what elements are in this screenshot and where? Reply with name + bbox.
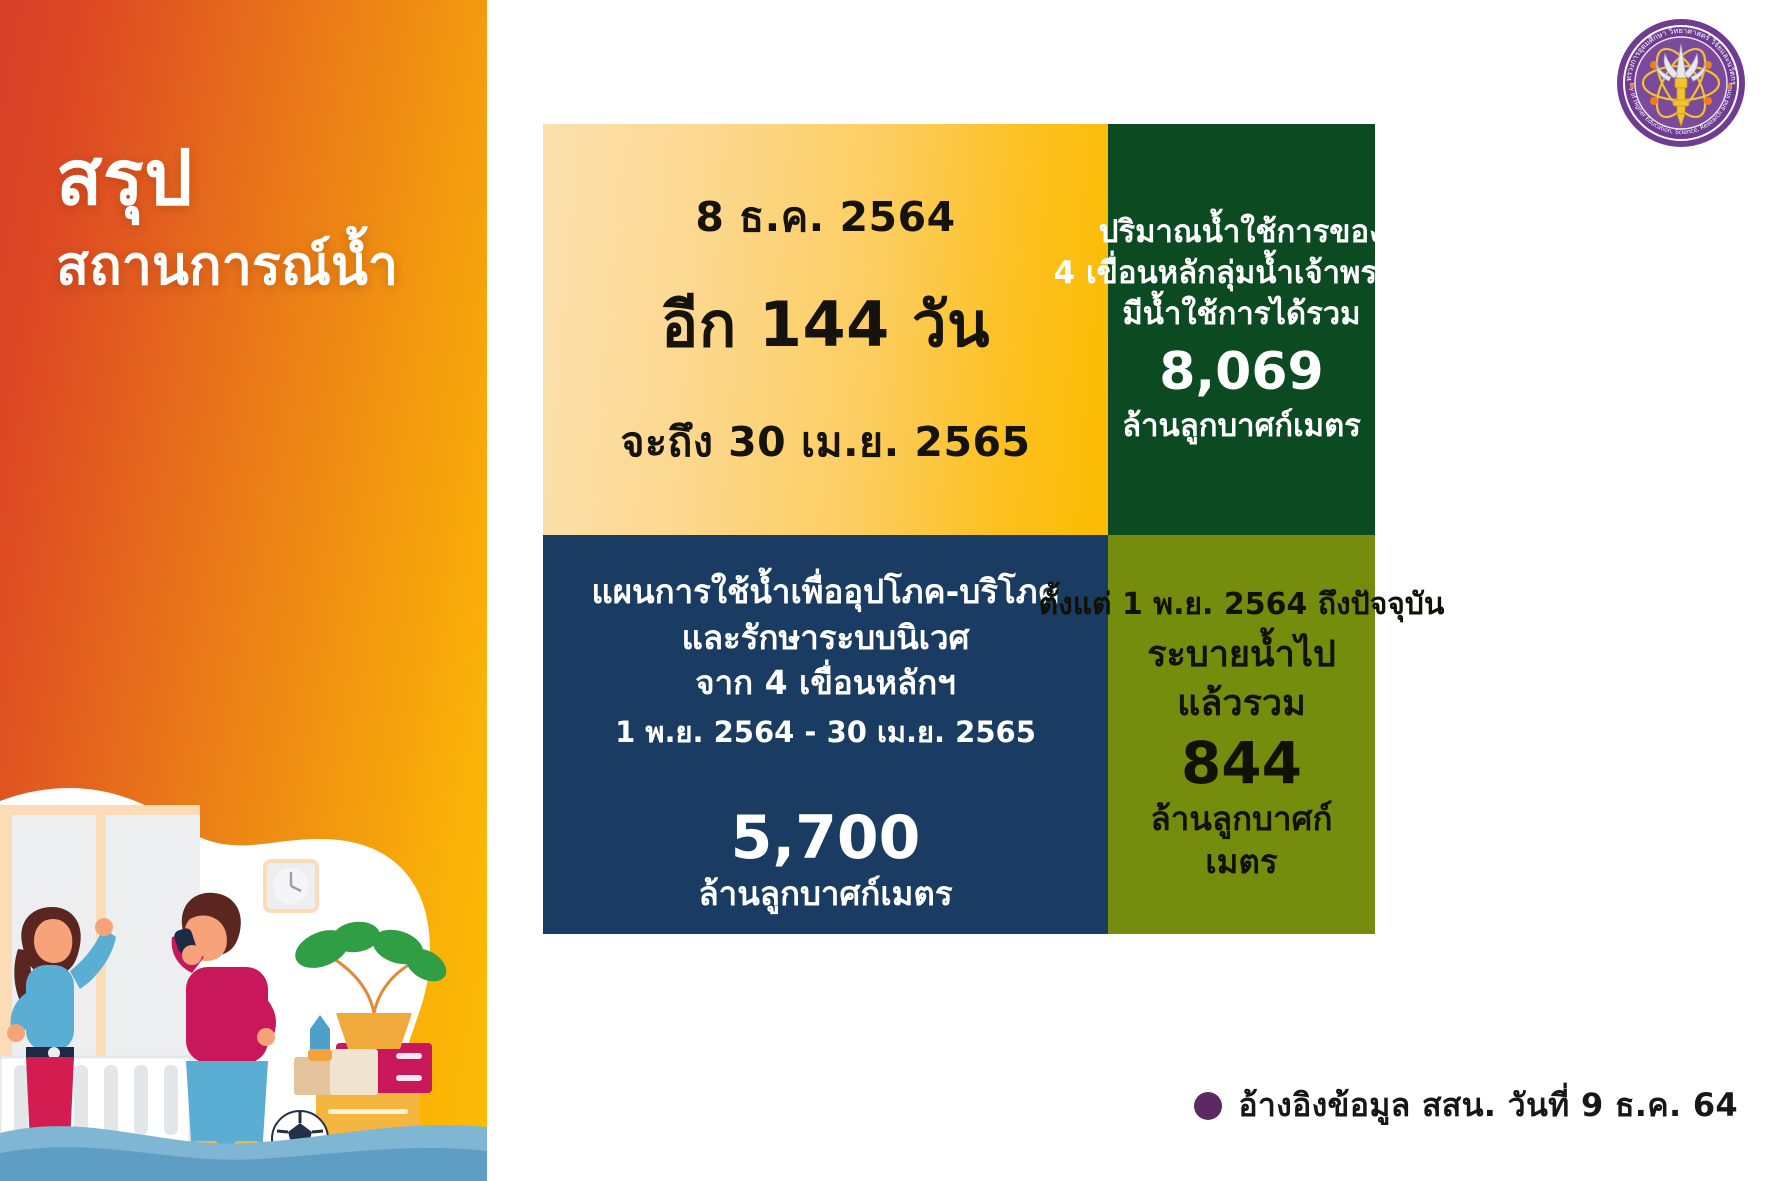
ministry-seal-icon: กระทรวงการอุดมศึกษา วิทยาศาสตร์ วิจัยและ… — [1612, 14, 1750, 152]
panel-countdown: 8 ธ.ค. 2564 อีก 144 วัน จะถึง 30 เม.ย. 2… — [543, 124, 1108, 535]
water-plan-unit: ล้านลูกบาศก์เมตร — [698, 873, 952, 916]
water-plan-line-3: จาก 4 เขื่อนหลักฯ — [695, 660, 956, 706]
flood-illustration — [0, 761, 487, 1181]
usable-water-unit: ล้านลูกบาศก์เมตร — [1122, 406, 1361, 447]
water-plan-value: 5,700 — [731, 804, 921, 873]
released-water-unit: ล้านลูกบาศก์เมตร — [1122, 798, 1361, 884]
bullet-dot-icon — [1194, 1092, 1222, 1120]
footer-reference-text: อ้างอิงข้อมูล สสน. วันที่ 9 ธ.ค. 64 — [1238, 1080, 1738, 1131]
water-plan-line-2: และรักษาระบบนิเวศ — [682, 615, 970, 661]
water-plan-line-1: แผนการใช้น้ำเพื่ออุปโภค-บริโภค — [591, 569, 1059, 615]
panel-released-water: ตั้งแต่ 1 พ.ย. 2564 ถึงปัจจุบัน ระบายน้ำ… — [1108, 535, 1375, 934]
countdown-until: จะถึง 30 เม.ย. 2565 — [620, 410, 1030, 475]
panel-water-plan: แผนการใช้น้ำเพื่ออุปโภค-บริโภค และรักษาร… — [543, 535, 1108, 934]
left-hero-panel: สรุป สถานการณ์น้ำ — [0, 0, 487, 1181]
title-line-1: สรุป — [56, 140, 486, 216]
released-water-line-1: ตั้งแต่ 1 พ.ย. 2564 ถึงปัจจุบัน — [1039, 585, 1445, 626]
usable-water-line-2: 4 เขื่อนหลักลุ่มน้ำเจ้าพระยา — [1054, 253, 1430, 294]
countdown-days: อีก 144 วัน — [661, 276, 990, 374]
usable-water-line-3: มีน้ำใช้การได้รวม — [1122, 294, 1360, 335]
title-line-2: สถานการณ์น้ำ — [56, 232, 486, 300]
water-plan-period: 1 พ.ย. 2564 - 30 เม.ย. 2565 — [615, 712, 1036, 753]
usable-water-line-1: ปริมาณน้ำใช้การของ — [1099, 212, 1384, 253]
usable-water-value: 8,069 — [1159, 339, 1323, 407]
footer-reference: อ้างอิงข้อมูล สสน. วันที่ 9 ธ.ค. 64 — [1194, 1080, 1738, 1131]
released-water-line-2: ระบายน้ำไปแล้วรวม — [1122, 631, 1361, 728]
released-water-value: 844 — [1181, 729, 1302, 799]
page-title: สรุป สถานการณ์น้ำ — [56, 140, 486, 300]
countdown-date: 8 ธ.ค. 2564 — [695, 185, 955, 250]
mhesi-logo: กระทรวงการอุดมศึกษา วิทยาศาสตร์ วิจัยและ… — [1612, 14, 1750, 152]
stats-grid: 8 ธ.ค. 2564 อีก 144 วัน จะถึง 30 เม.ย. 2… — [543, 124, 1375, 934]
panel-usable-water: ปริมาณน้ำใช้การของ 4 เขื่อนหลักลุ่มน้ำเจ… — [1108, 124, 1375, 535]
